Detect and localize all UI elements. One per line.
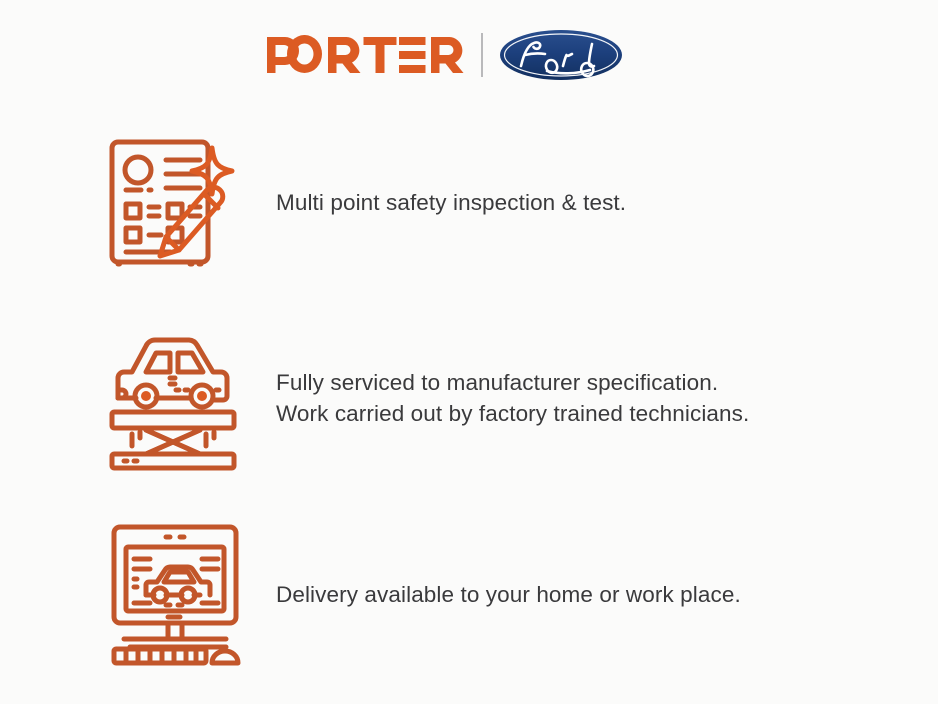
feature-text: Delivery available to your home or work …	[276, 579, 938, 610]
feature-icon-wrapper	[108, 132, 258, 272]
feature-icon-wrapper	[108, 328, 258, 468]
pencil-icon	[160, 187, 223, 256]
feature-row: Fully serviced to manufacturer specifica…	[0, 300, 938, 496]
brand-header: PORTER Ford	[0, 22, 938, 88]
feature-row: Delivery available to your home or work …	[0, 496, 938, 692]
clipboard-inspection-icon	[108, 132, 236, 272]
feature-list: Multi point safety inspection & test.	[0, 104, 938, 692]
feature-text: Fully serviced to manufacturer specifica…	[276, 367, 938, 429]
feature-text: Multi point safety inspection & test.	[276, 187, 938, 218]
brand-divider	[481, 33, 483, 77]
feature-text-line: Work carried out by factory trained tech…	[276, 398, 938, 429]
feature-icon-wrapper	[108, 521, 258, 667]
brand-lockup: PORTER Ford	[267, 29, 623, 81]
car-on-lift-icon	[108, 328, 238, 468]
feature-text-line: Delivery available to your home or work …	[276, 579, 938, 610]
feature-row: Multi point safety inspection & test.	[0, 104, 938, 300]
porter-wordmark: PORTER	[267, 35, 465, 75]
feature-text-line: Fully serviced to manufacturer specifica…	[276, 367, 938, 398]
computer-delivery-icon	[108, 521, 242, 667]
feature-text-line: Multi point safety inspection & test.	[276, 187, 938, 218]
ford-oval-logo: Ford	[499, 29, 623, 81]
